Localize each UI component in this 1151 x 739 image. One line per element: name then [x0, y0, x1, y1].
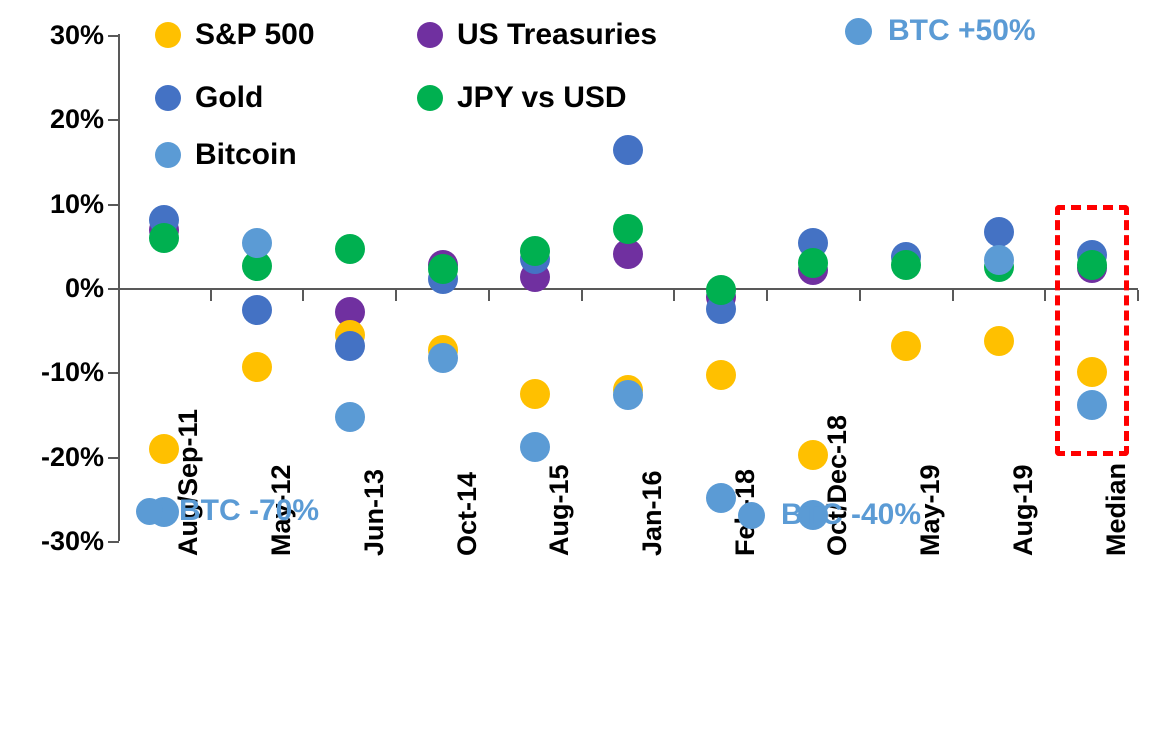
zero-baseline	[118, 288, 1138, 290]
legend-label: Gold	[195, 83, 263, 113]
legend-label: Bitcoin	[195, 140, 297, 170]
legend-label: US Treasuries	[457, 20, 657, 50]
data-point	[706, 360, 736, 390]
y-axis-label: 0%	[0, 275, 104, 302]
y-axis-tick	[108, 457, 119, 459]
data-point	[613, 214, 643, 244]
data-point	[335, 402, 365, 432]
data-point	[891, 250, 921, 280]
data-point	[984, 217, 1014, 247]
y-axis-tick	[108, 35, 119, 37]
y-axis-label: -10%	[0, 359, 104, 386]
bitcoin-dot-icon	[845, 18, 872, 45]
x-axis-label: Aug-19	[1010, 464, 1037, 556]
x-axis-label: Median	[1103, 463, 1130, 556]
x-axis-label: May-19	[917, 464, 944, 556]
y-axis-tick	[108, 204, 119, 206]
annotation-label: BTC -70%	[179, 496, 319, 526]
x-axis-label: Oct/Dec-18	[824, 415, 851, 556]
annotation-btc-plus-50: BTC +50%	[845, 16, 1036, 46]
data-point	[706, 483, 736, 513]
data-point	[520, 379, 550, 409]
y-axis-label: -30%	[0, 528, 104, 555]
x-axis-tick	[1044, 290, 1046, 301]
legend-swatch-icon	[417, 85, 443, 111]
annotation-btc-minus-40: BTC -40%	[738, 500, 921, 530]
x-axis-tick	[488, 290, 490, 301]
annotation-btc-minus-70: BTC -70%	[136, 496, 319, 526]
annotation-label: BTC +50%	[888, 16, 1036, 46]
y-axis-label: -20%	[0, 444, 104, 471]
y-axis-tick	[108, 119, 119, 121]
legend-item-us-treasuries[interactable]: US Treasuries	[417, 20, 657, 50]
data-point	[335, 331, 365, 361]
data-point	[428, 343, 458, 373]
data-point	[613, 135, 643, 165]
legend-swatch-icon	[155, 85, 181, 111]
legend-item-gold[interactable]: Gold	[155, 83, 263, 113]
x-axis-label: Jan-16	[639, 470, 666, 556]
legend-item-s-p-500[interactable]: S&P 500	[155, 20, 315, 50]
y-axis-label: 10%	[0, 191, 104, 218]
legend-item-jpy-vs-usd[interactable]: JPY vs USD	[417, 83, 627, 113]
x-axis-tick	[1137, 290, 1139, 301]
median-highlight-box	[1055, 205, 1129, 456]
y-axis-label: 30%	[0, 22, 104, 49]
x-axis-tick	[395, 290, 397, 301]
x-axis-tick	[859, 290, 861, 301]
data-point	[149, 223, 179, 253]
x-axis-tick	[952, 290, 954, 301]
legend-swatch-icon	[155, 22, 181, 48]
annotation-label: BTC -40%	[781, 500, 921, 530]
x-axis-tick	[673, 290, 675, 301]
x-axis-label: Jun-13	[361, 469, 388, 556]
y-axis-tick	[108, 288, 119, 290]
data-point	[984, 326, 1014, 356]
data-point	[335, 234, 365, 264]
x-axis-label: Aug/Sep-11	[175, 409, 202, 556]
data-point	[613, 380, 643, 410]
bitcoin-dot-icon	[136, 498, 163, 525]
data-point	[242, 295, 272, 325]
legend-swatch-icon	[155, 142, 181, 168]
x-axis-tick	[302, 290, 304, 301]
data-point	[242, 352, 272, 382]
x-axis-tick	[581, 290, 583, 301]
data-point	[242, 228, 272, 258]
x-axis-tick	[210, 290, 212, 301]
data-point	[428, 254, 458, 284]
legend-item-bitcoin[interactable]: Bitcoin	[155, 140, 297, 170]
data-point	[520, 432, 550, 462]
legend-label: S&P 500	[195, 20, 315, 50]
data-point	[891, 331, 921, 361]
bitcoin-dot-icon	[738, 502, 765, 529]
legend-label: JPY vs USD	[457, 83, 627, 113]
x-axis-tick	[766, 290, 768, 301]
y-axis-tick	[108, 372, 119, 374]
x-axis-label: Aug-15	[546, 464, 573, 556]
y-axis-tick	[108, 541, 119, 543]
y-axis-label: 20%	[0, 106, 104, 133]
chart-root: 30%20%10%0%-10%-20%-30%Aug/Sep-11May-12J…	[0, 0, 1151, 739]
x-axis-label: Oct-14	[454, 472, 481, 556]
data-point	[706, 275, 736, 305]
legend-swatch-icon	[417, 22, 443, 48]
